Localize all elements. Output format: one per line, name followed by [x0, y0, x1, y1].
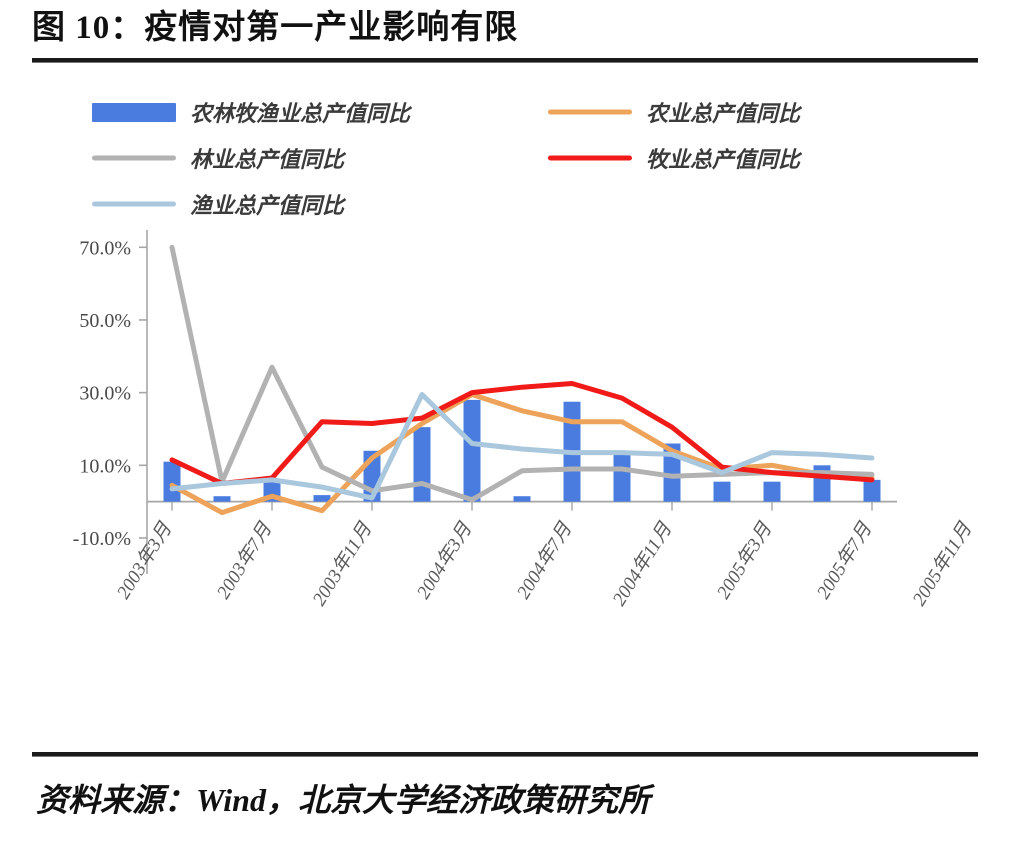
y-axis-tick-label: 10.0%	[79, 455, 131, 477]
x-axis-tick-label: 2004年3月	[412, 518, 476, 603]
x-axis-tick-label: 2004年11月	[608, 518, 677, 610]
source-note: 资料来源：Wind，北京大学经济政策研究所	[36, 778, 982, 822]
legend-label: 牧业总产值同比	[646, 142, 800, 174]
bar-series-point	[314, 495, 331, 502]
line-series-path	[172, 247, 872, 499]
bar-series-point	[714, 482, 731, 502]
bar-series-point	[414, 427, 431, 502]
title-divider	[32, 58, 978, 63]
source-divider	[32, 752, 978, 757]
legend-item-3[interactable]: 牧业总产值同比	[548, 142, 800, 174]
legend-swatch-line-icon	[92, 150, 176, 166]
figure-panel: 图 10：疫情对第一产业影响有限 农林牧渔业总产值同比 农业总产值同比 林业总产…	[0, 0, 1010, 852]
x-axis-tick-label: 2005年3月	[712, 518, 776, 603]
legend-swatch-line-icon	[548, 150, 632, 166]
bar-series-point	[614, 451, 631, 502]
y-axis-tick-label: 70.0%	[79, 237, 131, 259]
x-axis-tick-label: 2005年7月	[812, 518, 876, 603]
legend-label: 农林牧渔业总产值同比	[190, 96, 410, 128]
legend-item-4[interactable]: 渔业总产值同比	[92, 188, 344, 220]
x-axis-tick-label: 2003年7月	[212, 518, 276, 603]
chart-plot-area: -10.0%10.0%30.0%50.0%70.0%2003年3月2003年7月…	[0, 222, 1010, 722]
legend-item-2[interactable]: 林业总产值同比	[92, 142, 344, 174]
page-title: 图 10：疫情对第一产业影响有限	[32, 6, 978, 50]
legend-label: 渔业总产值同比	[190, 188, 344, 220]
bar-series-point	[464, 400, 481, 502]
legend-item-1[interactable]: 农业总产值同比	[548, 96, 800, 128]
bar-series-point	[864, 480, 881, 502]
legend-label: 林业总产值同比	[190, 142, 344, 174]
legend-swatch-line-icon	[548, 104, 632, 120]
bar-series-point	[764, 482, 781, 502]
legend-label: 农业总产值同比	[646, 96, 800, 128]
y-axis-tick-label: 30.0%	[79, 383, 131, 405]
y-axis-tick-label: -10.0%	[73, 528, 131, 550]
legend-swatch-bar-icon	[92, 103, 176, 122]
bar-series-point	[164, 462, 181, 502]
figure-title-wrap: 图 10：疫情对第一产业影响有限	[32, 6, 978, 50]
legend-item-0[interactable]: 农林牧渔业总产值同比	[92, 96, 410, 128]
y-axis-tick-label: 50.0%	[79, 310, 131, 332]
x-axis-tick-label: 2005年11月	[908, 518, 977, 610]
chart-svg: -10.0%10.0%30.0%50.0%70.0%2003年3月2003年7月…	[0, 222, 1010, 722]
x-axis-tick-label: 2004年7月	[512, 518, 576, 603]
chart-legend: 农林牧渔业总产值同比 农业总产值同比 林业总产值同比 牧业总产值同比 渔业总产值…	[92, 96, 952, 218]
bar-series-point	[514, 496, 531, 501]
bar-series-point	[214, 496, 231, 501]
legend-swatch-line-icon	[92, 196, 176, 212]
x-axis-tick-label: 2003年11月	[308, 518, 377, 610]
